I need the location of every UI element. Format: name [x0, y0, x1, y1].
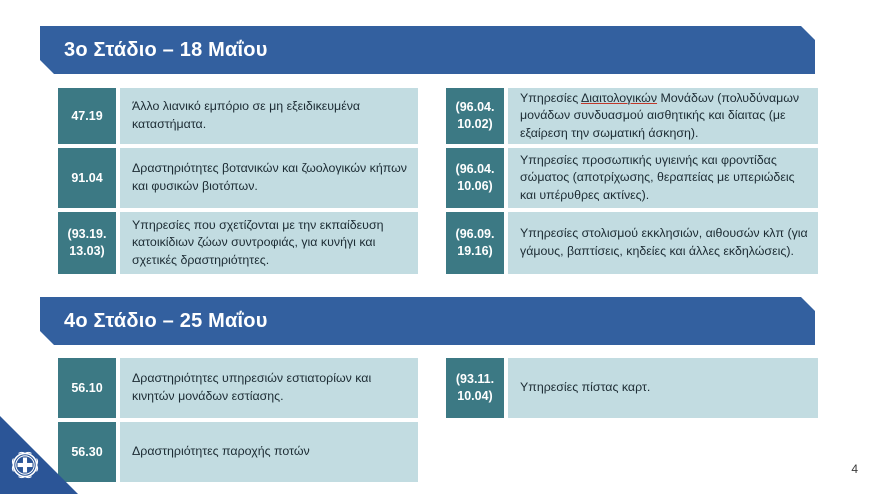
section-header-stage4: 4ο Στάδιο – 25 Μαΐου [40, 297, 815, 345]
description-box: Υπηρεσίες που σχετίζονται με την εκπαίδε… [120, 212, 418, 274]
code-line: 19.16) [457, 243, 492, 260]
table-row: (96.09. 19.16) Υπηρεσίες στολισμού εκκλη… [446, 212, 818, 274]
table-row: (96.04. 10.02) Υπηρεσίες Διαιτολογικών Μ… [446, 88, 818, 144]
code-line: (93.11. [456, 371, 494, 388]
table-row: 56.10 Δραστηριότητες υπηρεσιών εστιατορί… [58, 358, 418, 418]
corner-decoration [0, 416, 78, 494]
table-row: (93.19. 13.03) Υπηρεσίες που σχετίζονται… [58, 212, 418, 274]
table-row: (96.04. 10.06) Υπηρεσίες προσωπικής υγιε… [446, 148, 818, 208]
description-text: Υπηρεσίες στολισμού εκκλησιών, αιθουσών … [520, 225, 808, 260]
description-text: Δραστηριότητες υπηρεσιών εστιατορίων και… [132, 370, 408, 405]
stage3-left-column: 47.19 Άλλο λιανικό εμπόριο σε μη εξειδικ… [58, 88, 418, 278]
description-text: Δραστηριότητες παροχής ποτών [132, 443, 310, 461]
code-box: (96.04. 10.06) [446, 148, 504, 208]
description-box: Δραστηριότητες παροχής ποτών [120, 422, 418, 482]
description-box: Υπηρεσίες στολισμού εκκλησιών, αιθουσών … [508, 212, 818, 274]
greek-government-emblem-icon [8, 448, 42, 482]
code-line: 13.03) [69, 243, 104, 260]
code-line: 10.04) [457, 388, 492, 405]
description-text-prefix: Υπηρεσίες [520, 91, 581, 105]
code-line: 47.19 [71, 108, 102, 125]
table-row: 47.19 Άλλο λιανικό εμπόριο σε μη εξειδικ… [58, 88, 418, 144]
code-line: 10.06) [457, 178, 492, 195]
code-box: 47.19 [58, 88, 116, 144]
stage4-right-column: (93.11. 10.04) Υπηρεσίες πίστας καρτ. [446, 358, 818, 422]
presentation-slide: 3ο Στάδιο – 18 Μαΐου 47.19 Άλλο λιανικό … [0, 0, 880, 494]
section-title-stage3: 3ο Στάδιο – 18 Μαΐου [64, 39, 268, 62]
code-box: 91.04 [58, 148, 116, 208]
description-text: Άλλο λιανικό εμπόριο σε μη εξειδικευμένα… [132, 98, 408, 133]
spellcheck-flagged-word: Διαιτολογικών [581, 91, 657, 105]
code-line: (96.04. [456, 99, 495, 116]
section-title-stage4: 4ο Στάδιο – 25 Μαΐου [64, 310, 268, 333]
description-text: Υπηρεσίες που σχετίζονται με την εκπαίδε… [132, 217, 408, 270]
description-text: Υπηρεσίες Διαιτολογικών Μονάδων (πολυδύν… [520, 90, 808, 143]
code-line: 10.02) [457, 116, 492, 133]
code-line: 91.04 [71, 170, 102, 187]
description-text: Υπηρεσίες προσωπικής υγιεινής και φροντί… [520, 152, 808, 205]
table-row: (93.11. 10.04) Υπηρεσίες πίστας καρτ. [446, 358, 818, 418]
code-box: 56.10 [58, 358, 116, 418]
description-text: Υπηρεσίες πίστας καρτ. [520, 379, 650, 397]
code-line: (96.09. [456, 226, 495, 243]
code-line: (93.19. [68, 226, 107, 243]
code-line: 56.10 [71, 380, 102, 397]
page-number: 4 [851, 462, 858, 476]
description-box: Υπηρεσίες Διαιτολογικών Μονάδων (πολυδύν… [508, 88, 818, 144]
description-box: Άλλο λιανικό εμπόριο σε μη εξειδικευμένα… [120, 88, 418, 144]
table-row: 91.04 Δραστηριότητες βοτανικών και ζωολο… [58, 148, 418, 208]
description-box: Δραστηριότητες υπηρεσιών εστιατορίων και… [120, 358, 418, 418]
code-box: (93.11. 10.04) [446, 358, 504, 418]
table-row: 56.30 Δραστηριότητες παροχής ποτών [58, 422, 418, 482]
description-box: Υπηρεσίες πίστας καρτ. [508, 358, 818, 418]
code-line: (96.04. [456, 161, 495, 178]
stage3-right-column: (96.04. 10.02) Υπηρεσίες Διαιτολογικών Μ… [446, 88, 818, 278]
description-box: Δραστηριότητες βοτανικών και ζωολογικών … [120, 148, 418, 208]
code-box: (93.19. 13.03) [58, 212, 116, 274]
code-box: (96.04. 10.02) [446, 88, 504, 144]
code-box: (96.09. 19.16) [446, 212, 504, 274]
section-header-stage3: 3ο Στάδιο – 18 Μαΐου [40, 26, 815, 74]
description-box: Υπηρεσίες προσωπικής υγιεινής και φροντί… [508, 148, 818, 208]
description-text: Δραστηριότητες βοτανικών και ζωολογικών … [132, 160, 408, 195]
stage4-left-column: 56.10 Δραστηριότητες υπηρεσιών εστιατορί… [58, 358, 418, 486]
